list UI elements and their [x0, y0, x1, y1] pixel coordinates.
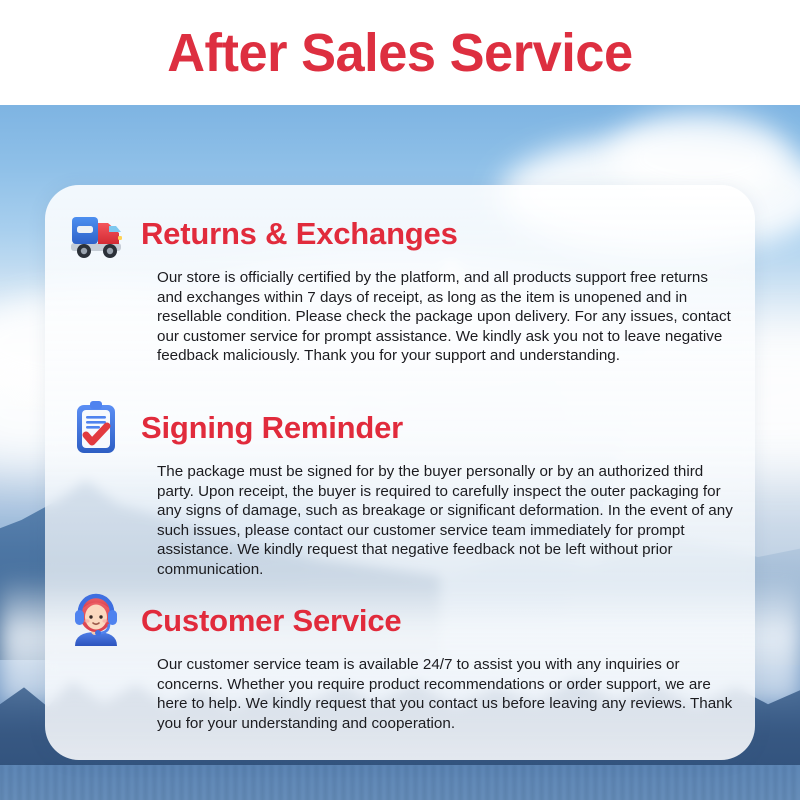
section-title: Returns & Exchanges: [141, 216, 458, 252]
section-title: Signing Reminder: [141, 410, 403, 446]
section-body-text: The package must be signed for by the bu…: [157, 462, 737, 580]
lake-reflection: [0, 765, 800, 800]
delivery-truck-icon: [65, 203, 127, 265]
section-returns-exchanges: Returns & Exchanges Our store is officia…: [65, 203, 737, 366]
section-header: Customer Service: [65, 590, 737, 652]
section-body-text: Our store is officially certified by the…: [157, 268, 737, 366]
section-header: Signing Reminder: [65, 397, 737, 459]
customer-support-agent-icon: [65, 590, 127, 652]
page-root: After Sales Service: [0, 0, 800, 800]
clipboard-check-icon: [65, 397, 127, 459]
section-title: Customer Service: [141, 603, 401, 639]
section-header: Returns & Exchanges: [65, 203, 737, 265]
section-customer-service: Customer Service Our customer service te…: [65, 590, 737, 733]
section-signing-reminder: Signing Reminder The package must be sig…: [65, 397, 737, 580]
page-header: After Sales Service: [0, 0, 800, 105]
page-title: After Sales Service: [167, 22, 632, 84]
content-card: Returns & Exchanges Our store is officia…: [45, 185, 755, 760]
section-body-text: Our customer service team is available 2…: [157, 655, 737, 733]
